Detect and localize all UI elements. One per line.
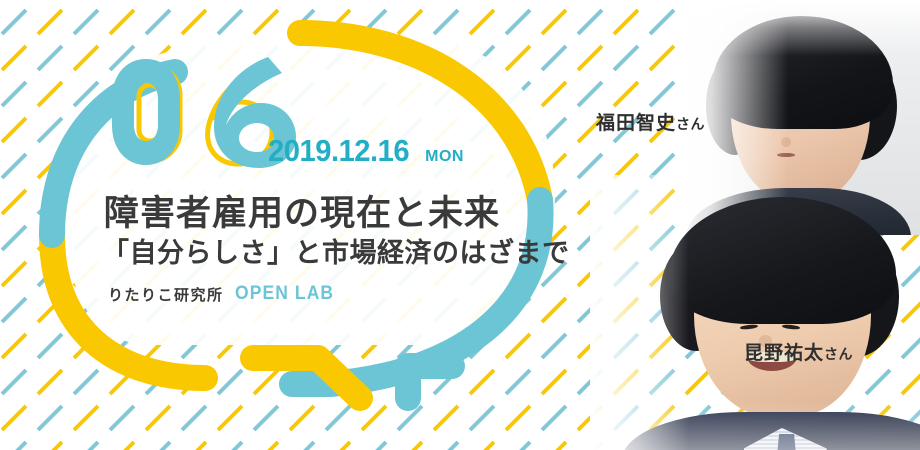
speaker-name-fukuda: 福田智史 さん bbox=[596, 108, 705, 135]
speaker-honorific-text: さん bbox=[676, 114, 705, 134]
speaker-name-text: 福田智史 bbox=[596, 108, 676, 135]
event-banner: 2019.12.16 MON 障害者雇用の現在と未来 「自分らしさ」と市場経済の… bbox=[0, 0, 920, 450]
date-text: 2019.12.16 bbox=[268, 133, 409, 169]
speaker-name-konno: 昆野祐太 さん bbox=[744, 338, 853, 365]
event-date: 2019.12.16 MON bbox=[268, 133, 464, 169]
speaker-name-text: 昆野祐太 bbox=[744, 338, 824, 365]
event-title-sub: 「自分らしさ」と市場経済のはざまで bbox=[102, 231, 570, 270]
speaker-photo-konno bbox=[590, 175, 920, 450]
person-figure bbox=[649, 192, 920, 450]
banner-content: 2019.12.16 MON 障害者雇用の現在と未来 「自分らしさ」と市場経済の… bbox=[78, 45, 558, 335]
logo-text-en: OPEN LAB bbox=[235, 283, 334, 305]
speaker-honorific-text: さん bbox=[824, 344, 853, 364]
day-of-week-text: MON bbox=[425, 148, 464, 166]
brand-logo: りたりこ研究所 OPEN LAB bbox=[108, 283, 342, 305]
event-title-main: 障害者雇用の現在と未来 bbox=[104, 185, 500, 236]
logo-text-jp: りたりこ研究所 bbox=[108, 284, 224, 305]
